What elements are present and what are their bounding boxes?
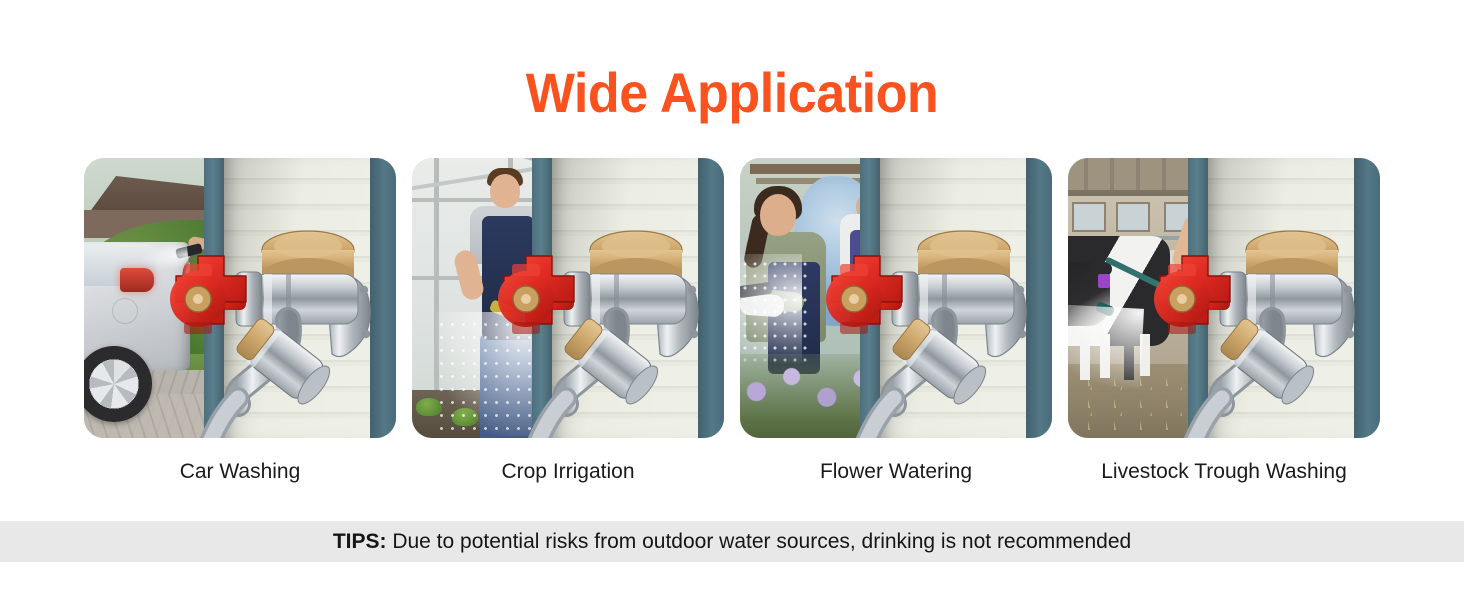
- siding-edge-trim: [370, 158, 396, 438]
- cow-ear-tag: [1098, 274, 1110, 288]
- water-droplets: [436, 318, 546, 438]
- scene-flower-watering: [740, 158, 1052, 438]
- water-spray: [139, 242, 189, 273]
- application-card-flower-watering[interactable]: [740, 158, 1052, 438]
- scene-livestock-trough-washing: [1068, 158, 1380, 438]
- application-card-row: [84, 158, 1380, 438]
- caption-car-washing: Car Washing: [84, 455, 396, 493]
- siding-corner-trim: [1188, 158, 1208, 438]
- water-droplets: [740, 258, 810, 362]
- tips-bar: TIPS: Due to potential risks from outdoo…: [0, 521, 1464, 562]
- person-head: [760, 194, 796, 236]
- siding-corner-trim: [860, 158, 880, 438]
- siding-corner-trim: [532, 158, 552, 438]
- caption-crop-irrigation: Crop Irrigation: [412, 455, 724, 493]
- siding-corner-trim: [204, 158, 224, 438]
- application-card-car-washing[interactable]: [84, 158, 396, 438]
- caption-livestock-trough-washing: Livestock Trough Washing: [1068, 455, 1380, 493]
- caption-row: Car Washing Crop Irrigation Flower Water…: [84, 455, 1380, 493]
- person-head: [490, 174, 520, 208]
- tips-body: Due to potential risks from outdoor wate…: [392, 530, 1131, 553]
- siding-edge-trim: [1026, 158, 1052, 438]
- barn-window: [1116, 202, 1150, 232]
- barn-window: [1072, 202, 1106, 232]
- water-jet: [1068, 303, 1144, 389]
- fuel-cap: [112, 298, 138, 324]
- tips-text: TIPS: Due to potential risks from outdoo…: [333, 530, 1131, 554]
- wide-application-banner: Wide Application: [0, 0, 1464, 600]
- scene-crop-irrigation: [412, 158, 724, 438]
- page-title: Wide Application: [51, 62, 1413, 124]
- siding-edge-trim: [1354, 158, 1380, 438]
- application-card-livestock-trough-washing[interactable]: [1068, 158, 1380, 438]
- tips-label: TIPS:: [333, 530, 387, 553]
- scene-car-washing: [84, 158, 396, 438]
- caption-flower-watering: Flower Watering: [740, 455, 1052, 493]
- siding-edge-trim: [698, 158, 724, 438]
- application-card-crop-irrigation[interactable]: [412, 158, 724, 438]
